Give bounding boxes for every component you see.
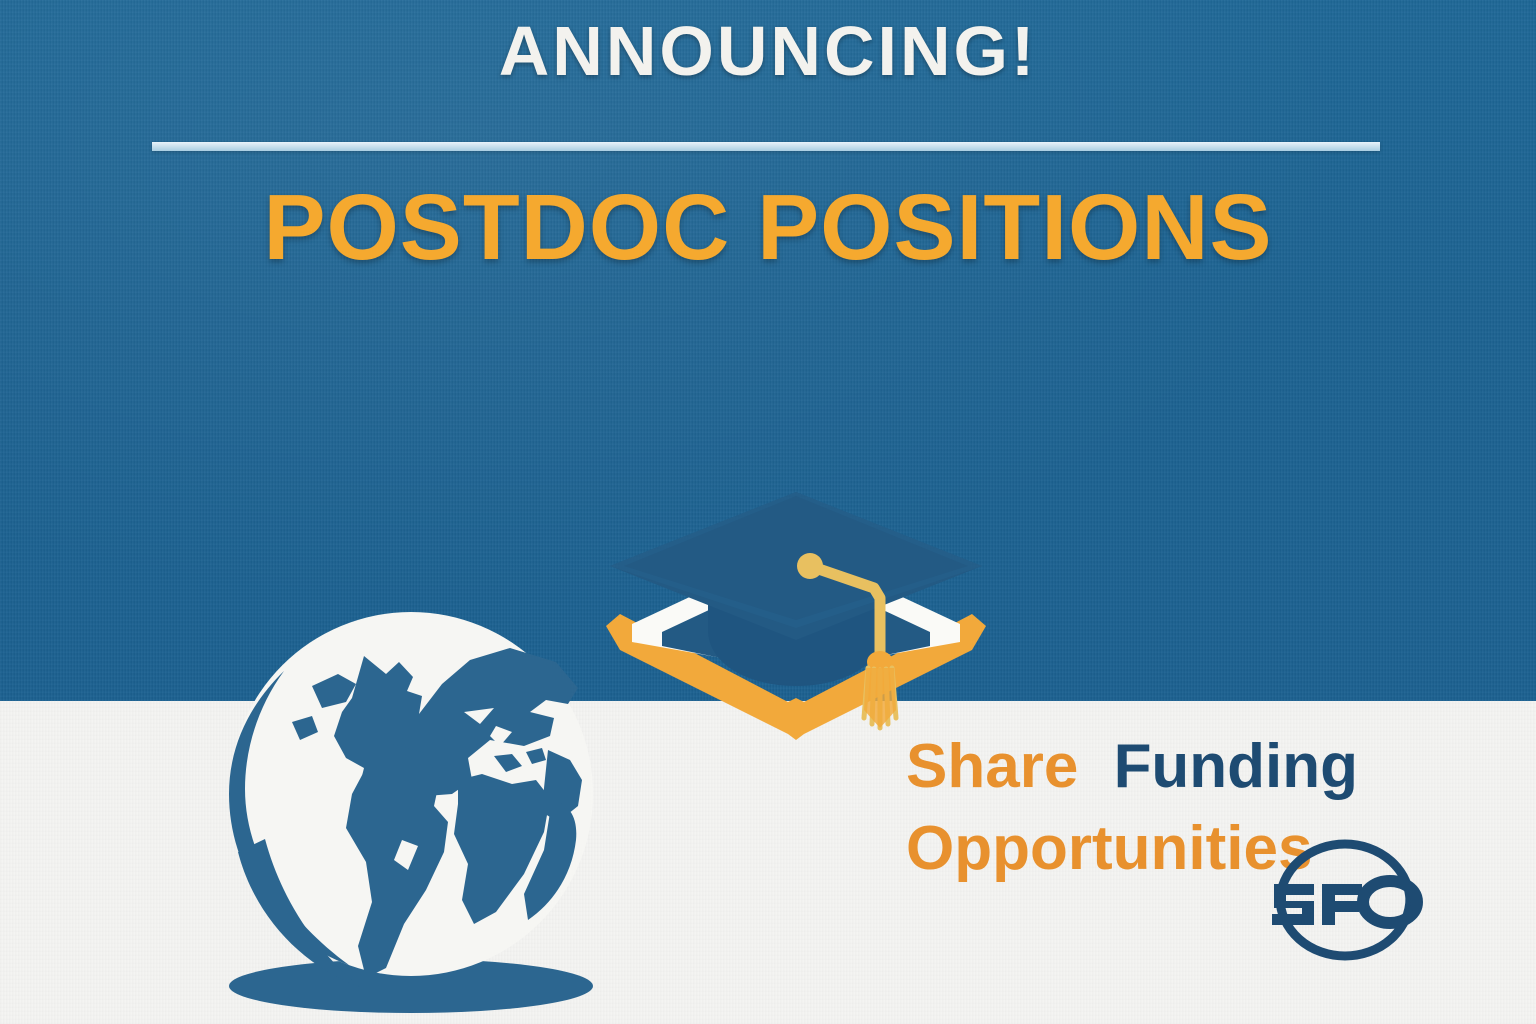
announcement-label: ANNOUNCING! — [0, 16, 1536, 86]
horizontal-divider — [152, 142, 1380, 151]
logo-word-opportunities: Opportunities — [906, 814, 1312, 883]
logo-line-one: Share Funding — [906, 736, 1358, 798]
logo-word-funding: Funding — [1114, 732, 1358, 801]
sfo-logo: Share Funding Opportunities — [906, 736, 1446, 946]
globe-icon — [196, 594, 626, 1024]
page-title: POSTDOC POSITIONS — [0, 181, 1536, 274]
sfo-circle-mark-icon — [1262, 828, 1428, 968]
logo-word-share: Share — [906, 732, 1078, 801]
poster-canvas: ANNOUNCING! POSTDOC POSITIONS — [0, 0, 1536, 1024]
graduation-cap-on-book-icon — [596, 478, 996, 768]
logo-line-two: Opportunities — [906, 818, 1312, 880]
